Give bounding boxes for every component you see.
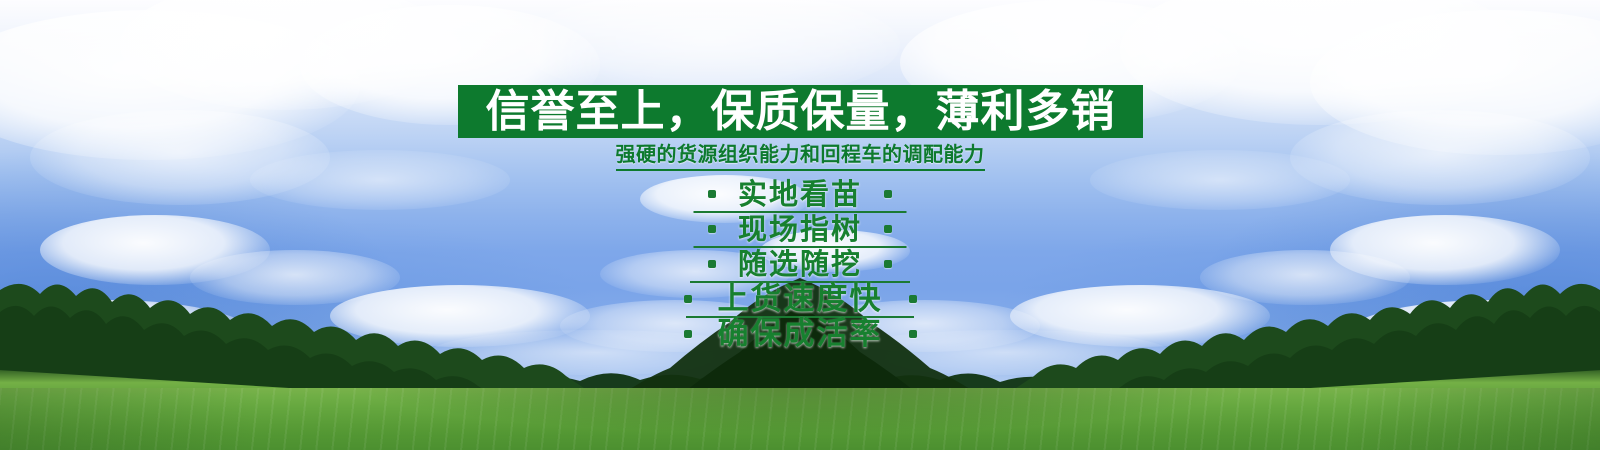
bullet-dot-right-icon	[884, 225, 892, 233]
subtitle-text: 强硬的货源组织能力和回程车的调配能力	[616, 142, 985, 171]
field-shading	[0, 388, 1600, 450]
slogan-item: 上货速度快	[0, 281, 1600, 316]
slogan-list: 实地看苗 现场指树 随选随挖 上货速度快	[0, 176, 1600, 351]
bullet-dot-left-icon	[708, 190, 716, 198]
slogan-item: 现场指树	[0, 211, 1600, 246]
bullet-dot-right-icon	[909, 330, 917, 338]
slogan-item: 确保成活率	[0, 316, 1600, 351]
promo-banner: 信誉至上，保质保量，薄利多销 强硬的货源组织能力和回程车的调配能力 实地看苗 现…	[0, 0, 1600, 450]
slogan-label: 随选随挖	[738, 248, 862, 280]
bullet-dot-left-icon	[684, 330, 692, 338]
headline-bar: 信誉至上，保质保量，薄利多销	[458, 85, 1143, 138]
bullet-dot-right-icon	[884, 190, 892, 198]
headline-text: 信誉至上，保质保量，薄利多销	[486, 88, 1116, 136]
bullet-dot-left-icon	[684, 295, 692, 303]
slogan-label: 实地看苗	[738, 178, 862, 210]
slogan-item: 随选随挖	[0, 246, 1600, 281]
slogan-label: 确保成活率	[718, 318, 883, 350]
subtitle-wrap: 强硬的货源组织能力和回程车的调配能力	[0, 142, 1600, 171]
slogan-label: 上货速度快	[718, 283, 883, 315]
bullet-dot-left-icon	[708, 260, 716, 268]
bullet-dot-right-icon	[909, 295, 917, 303]
slogan-item: 实地看苗	[0, 176, 1600, 211]
grass-field	[0, 388, 1600, 450]
bullet-dot-left-icon	[708, 225, 716, 233]
bullet-dot-right-icon	[884, 260, 892, 268]
slogan-label: 现场指树	[738, 213, 862, 245]
